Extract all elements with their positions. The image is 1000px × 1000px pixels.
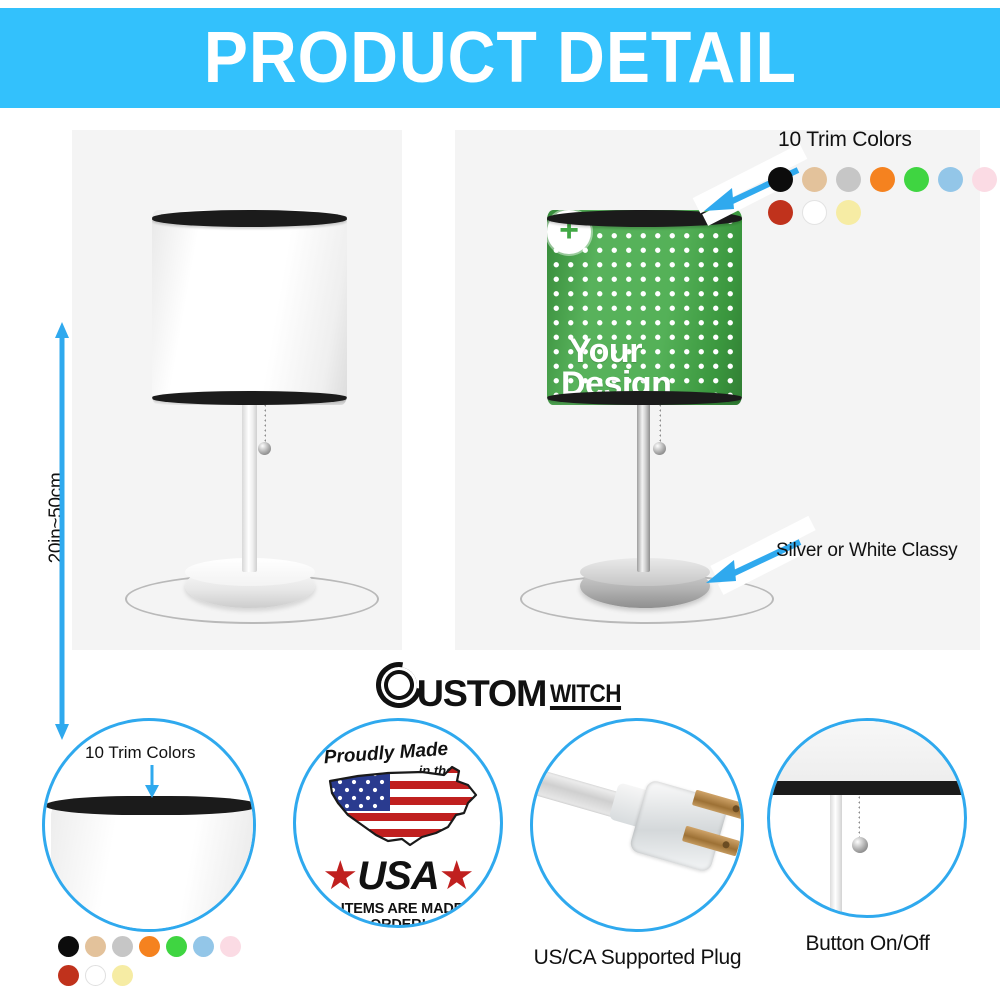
swatch-gray[interactable] [836,167,861,192]
brand-logo: USTOM WITCH [0,660,1000,712]
switch-closeup-shade [767,718,967,785]
switch-pull-chain-ball[interactable] [852,837,868,853]
logo-main-text: USTOM [416,677,545,710]
lampshade-trim-bottom-white [152,391,347,405]
usa-badge-footer: ALL ITEMS ARE MADE TO ORDER! [296,901,500,928]
swatch-white-sm[interactable] [85,965,106,986]
main-stage: 7in~18cm 20in~50cm [0,112,1000,657]
logo-sub-text: WITCH [549,683,620,711]
feature-row: 10 Trim Colors Pro [0,714,1000,1000]
swatch-gray-sm[interactable] [112,936,133,957]
feature-circle-switch [767,718,967,918]
lampshade-white [152,210,347,405]
star-right-icon: ★ [439,854,474,898]
switch-closeup-pole [830,795,842,918]
lampshade-trim-top-white [152,210,347,227]
plug-prong-hole-top [732,804,741,813]
feature-trim-swatches [58,936,268,994]
swatch-orange[interactable] [870,167,895,192]
swatch-green[interactable] [904,167,929,192]
feature-circle-trim: 10 Trim Colors [42,718,256,932]
usa-text: USA [357,854,438,898]
plug-body [628,779,729,873]
plug-label: US/CA Supported Plug [505,946,770,970]
trim-colors-down-arrow [143,765,161,799]
pull-chain-ball-white [258,442,271,455]
swatch-dark-red[interactable] [768,200,793,225]
star-left-icon: ★ [322,854,357,898]
swatch-dark-red-sm[interactable] [58,965,79,986]
base-finish-label: Silver or White Classy [776,540,957,562]
page-title: PRODUCT DETAIL [203,22,796,94]
pull-chain-ball-green [653,442,666,455]
trim-closeup-shade [51,805,253,932]
lamp-pole-white [242,392,257,572]
switch-label: Button On/Off [755,932,980,956]
trim-colors-label-top: 10 Trim Colors [778,128,912,152]
feature-plug: US/CA Supported Plug [505,714,770,1000]
usa-badge-country: ★USA★ [296,853,500,899]
switch-pull-chain [858,795,860,841]
swatch-light-blue[interactable] [938,167,963,192]
trim-colors-swatches-top [768,167,1000,233]
swatch-yellow-sm[interactable] [112,965,133,986]
usa-map-flag-icon [318,759,486,855]
swatch-orange-sm[interactable] [139,936,160,957]
swatch-pink[interactable] [972,167,997,192]
lampshade-trim-bottom-custom [547,391,742,405]
feature-made-in-usa: Proudly Made in the [285,714,505,1000]
swatch-tan-sm[interactable] [85,936,106,957]
feature-circle-usa: Proudly Made in the [293,718,503,928]
swatch-light-blue-sm[interactable] [193,936,214,957]
swatch-black-sm[interactable] [58,936,79,957]
swatch-white[interactable] [802,200,827,225]
feature-circle-plug [530,718,744,932]
lamp-white [130,192,390,642]
product-detail-infographic: PRODUCT DETAIL 7in~18cm 20in~50cm [0,0,1000,1000]
your-design-line-1: Your [569,335,642,368]
plug-prong-hole-bottom [722,840,731,849]
lampshade-white-surface [152,210,347,405]
switch-closeup-trim [767,781,967,795]
swatch-black[interactable] [768,167,793,192]
swatch-tan[interactable] [802,167,827,192]
swatch-pink-sm[interactable] [220,936,241,957]
swatch-green-sm[interactable] [166,936,187,957]
header-banner: PRODUCT DETAIL [0,8,1000,108]
trim-colors-note: 10 Trim Colors [85,743,196,763]
lampshade-custom: Your + Design [547,210,742,405]
feature-switch: Button On/Off [755,714,980,1000]
feature-trim-colors: 10 Trim Colors [30,714,260,1000]
lamp-pole-silver [637,392,650,572]
swatch-yellow[interactable] [836,200,861,225]
